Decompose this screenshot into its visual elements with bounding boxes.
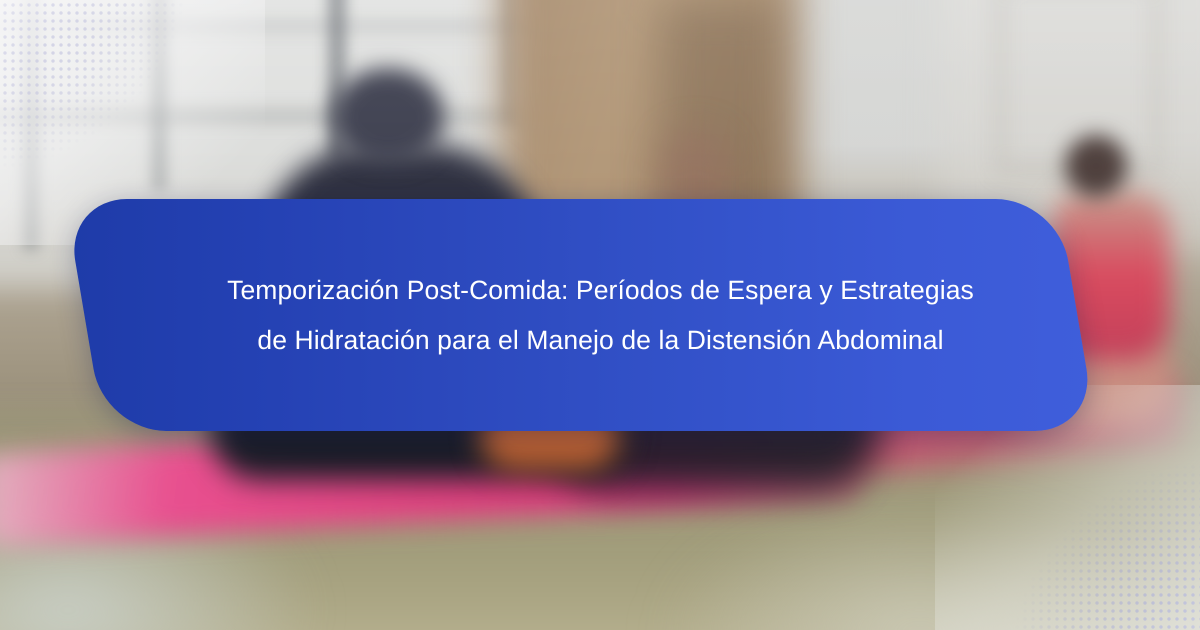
title-line-1: Temporización Post-Comida: Períodos de E… [227,265,974,315]
window-rail-upper [0,22,560,31]
title-card: Temporización Post-Comida: Períodos de E… [104,199,1097,431]
title-card-text-block: Temporización Post-Comida: Períodos de E… [104,199,1097,431]
title-line-2: de Hidratación para el Manejo de la Dist… [257,315,943,365]
foreground-person-head [332,68,444,164]
right-person-head [1065,135,1127,197]
social-card-canvas: Temporización Post-Comida: Períodos de E… [0,0,1200,630]
floor-reflection-right [660,500,1180,630]
window-mullion [24,0,38,250]
window-mullion [152,0,166,190]
